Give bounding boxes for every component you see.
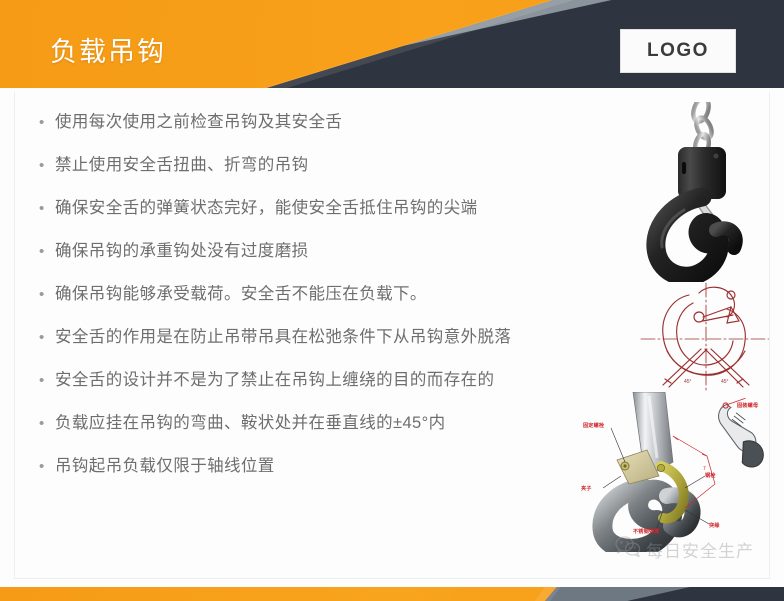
list-item-text: 确保吊钩的承重钩处没有过度磨损 — [55, 241, 309, 262]
wechat-icon — [615, 536, 641, 563]
list-item-text: 安全舌的设计并不是为了禁止在吊钩上缠绕的目的而存在的 — [55, 370, 494, 391]
diagram-label-flange: 突缘 — [709, 522, 720, 529]
list-item-text: 禁止使用安全舌扭曲、折弯的吊钩 — [55, 155, 309, 176]
watermark: 每日安全生产 — [615, 536, 754, 563]
latch-pivot-bolt — [657, 464, 664, 471]
list-item: • 禁止使用安全舌扭曲、折弯的吊钩 — [39, 155, 639, 176]
list-item: • 确保安全舌的弹簧状态完好，能使安全舌抵住吊钩的尖端 — [39, 198, 639, 219]
diagram-label-steel-bolt: 钢栓 — [705, 472, 716, 479]
list-item: • 使用每次使用之前检查吊钩及其安全舌 — [39, 112, 639, 133]
list-item: • 安全舌的设计并不是为了禁止在吊钩上缠绕的目的而存在的 — [39, 370, 639, 391]
page-title: 负载吊钩 — [50, 30, 166, 69]
list-item-text: 吊钩起吊负载仅限于轴线位置 — [55, 456, 275, 477]
bullet-marker-icon: • — [39, 155, 55, 176]
bullet-marker-icon: • — [39, 413, 55, 434]
slide-footer — [0, 587, 784, 601]
list-item: • 确保吊钩的承重钩处没有过度磨损 — [39, 241, 639, 262]
annotated-hook-latch-diagram: 7 — [581, 392, 770, 552]
bullet-marker-icon: • — [39, 370, 55, 391]
angle-label-left: 45° — [684, 379, 692, 385]
logo-placeholder: LOGO — [620, 29, 736, 73]
diagram-label-ss-spring: 不锈钢弹簧 — [633, 528, 659, 535]
watermark-text: 每日安全生产 — [646, 537, 754, 562]
bullet-marker-icon: • — [39, 327, 55, 348]
diagram-label-clamp: 夹子 — [581, 485, 592, 492]
bullet-marker-icon: • — [39, 284, 55, 305]
slide-header: 负载吊钩 LOGO — [0, 0, 784, 88]
list-item-text: 负载应挂在吊钩的弯曲、鞍状处并在垂直线的±45°内 — [55, 413, 446, 434]
list-item-text: 使用每次使用之前检查吊钩及其安全舌 — [55, 112, 342, 133]
hook-load-angle-line-drawing: 45° 45° — [627, 277, 770, 399]
angle-label-right: 45° — [721, 379, 729, 385]
list-item-text: 安全舌的作用是在防止吊带吊具在松弛条件下从吊钩意外脱落 — [55, 327, 511, 348]
bullet-marker-icon: • — [39, 112, 55, 133]
slide: 负载吊钩 LOGO • 使用每次使用之前检查吊钩及其安全舌 • 禁止使用安全舌扭… — [0, 0, 784, 601]
black-lifting-hook-with-chain-image — [620, 102, 770, 282]
logo-label: LOGO — [647, 40, 709, 62]
bullet-marker-icon: • — [39, 456, 55, 477]
list-item: • 负载应挂在吊钩的弯曲、鞍状处并在垂直线的±45°内 — [39, 413, 639, 434]
list-item: • 确保吊钩能够承受载荷。安全舌不能压在负载下。 — [39, 284, 639, 305]
bullet-marker-icon: • — [39, 241, 55, 262]
list-item: • 吊钩起吊负载仅限于轴线位置 — [39, 456, 639, 477]
diagram-label-fixing-bolt: 固定螺栓 — [583, 422, 604, 429]
hook-body — [656, 197, 720, 276]
diagram-label-mount-nut: 固装螺母 — [737, 402, 758, 409]
bullet-list: • 使用每次使用之前检查吊钩及其安全舌 • 禁止使用安全舌扭曲、折弯的吊钩 • … — [39, 112, 639, 499]
list-item: • 安全舌的作用是在防止吊带吊具在松弛条件下从吊钩意外脱落 — [39, 327, 639, 348]
bullet-marker-icon: • — [39, 198, 55, 219]
list-item-text: 确保吊钩能够承受载荷。安全舌不能压在负载下。 — [55, 284, 427, 305]
list-item-text: 确保安全舌的弹簧状态完好，能使安全舌抵住吊钩的尖端 — [55, 198, 478, 219]
slide-content: • 使用每次使用之前检查吊钩及其安全舌 • 禁止使用安全舌扭曲、折弯的吊钩 • … — [14, 92, 770, 579]
